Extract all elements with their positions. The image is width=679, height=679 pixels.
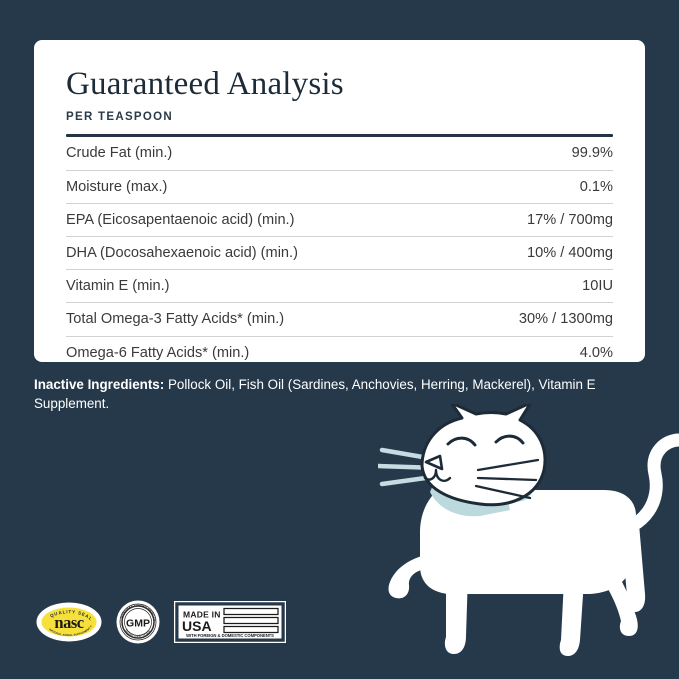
table-row: Omega-6 Fatty Acids* (min.)4.0% [66, 336, 613, 369]
nutrient-value: 30% / 1300mg [455, 303, 613, 336]
nutrient-name: Vitamin E (min.) [66, 270, 455, 303]
table-row: Total Omega-3 Fatty Acids* (min.)30% / 1… [66, 303, 613, 336]
table-row: Moisture (max.)0.1% [66, 170, 613, 203]
nutrition-table: Crude Fat (min.)99.9%Moisture (max.)0.1%… [66, 137, 613, 369]
nutrient-value: 4.0% [455, 336, 613, 369]
guaranteed-analysis-card: Guaranteed Analysis PER TEASPOON Crude F… [34, 40, 645, 362]
nutrient-name: Moisture (max.) [66, 170, 455, 203]
made-in-usa-badge: MADE IN USA WITH FOREIGN & DOMESTIC COMP… [174, 601, 286, 643]
gmp-certified-badge: MANUFACTURING PRACTICES GOOD CERTIFIED G… [116, 600, 160, 644]
nutrient-value: 99.9% [455, 137, 613, 170]
nutrient-name: Omega-6 Fatty Acids* (min.) [66, 336, 455, 369]
usa-line3: WITH FOREIGN & DOMESTIC COMPONENTS [186, 633, 274, 638]
usa-line2: USA [182, 618, 212, 634]
page-title: Guaranteed Analysis [66, 66, 613, 102]
product-label-panel: Guaranteed Analysis PER TEASPOON Crude F… [0, 0, 679, 679]
table-row: EPA (Eicosapentaenoic acid) (min.)17% / … [66, 203, 613, 236]
nasc-main-text: nasc [54, 613, 83, 632]
gmp-main-text: GMP [126, 618, 150, 630]
table-row: DHA (Docosahexaenoic acid) (min.)10% / 4… [66, 237, 613, 270]
nutrient-name: EPA (Eicosapentaenoic acid) (min.) [66, 203, 455, 236]
table-row: Vitamin E (min.)10IU [66, 270, 613, 303]
serving-size-label: PER TEASPOON [66, 111, 613, 123]
cat-head [422, 404, 545, 505]
cat-front-leg [445, 574, 468, 654]
walking-cat-illustration [378, 404, 679, 664]
nutrient-value: 10IU [455, 270, 613, 303]
nutrient-value: 10% / 400mg [455, 237, 613, 270]
nutrient-value: 0.1% [455, 170, 613, 203]
nasc-quality-seal-badge: QUALITY SEAL NATIONAL ANIMAL SUPPLEMENT … [36, 602, 102, 642]
table-row: Crude Fat (min.)99.9% [66, 137, 613, 170]
nutrient-name: Total Omega-3 Fatty Acids* (min.) [66, 303, 455, 336]
inactive-ingredients-label: Inactive Ingredients: [34, 377, 164, 392]
nutrient-name: DHA (Docosahexaenoic acid) (min.) [66, 237, 455, 270]
nutrient-value: 17% / 700mg [455, 203, 613, 236]
certification-badges: QUALITY SEAL NATIONAL ANIMAL SUPPLEMENT … [36, 598, 286, 646]
nutrient-name: Crude Fat (min.) [66, 137, 455, 170]
